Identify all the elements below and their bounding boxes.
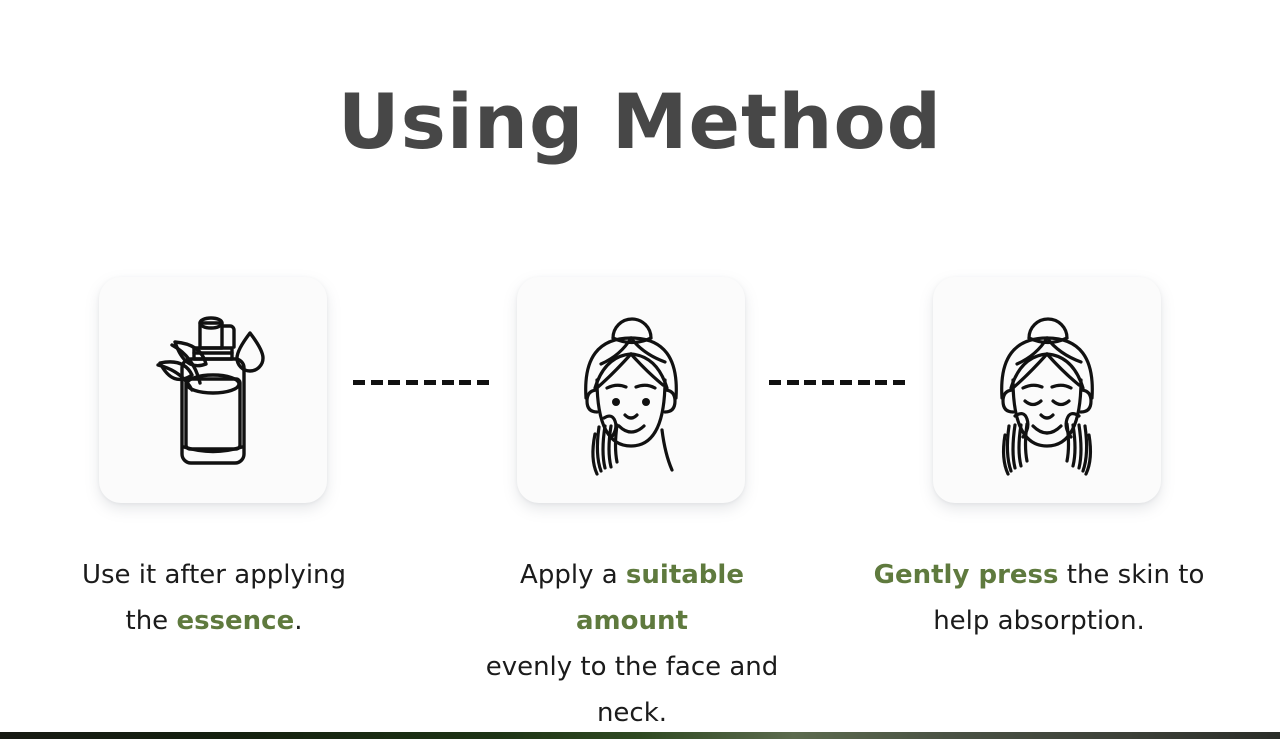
section-divider-strip [0,732,1280,739]
step-card-2[interactable] [517,277,745,503]
dash-segment [840,380,852,385]
dash-segment [442,380,454,385]
dash-segment [804,380,816,385]
dash-segment [893,380,905,385]
dash-segment [406,380,418,385]
steps-row [0,277,1280,507]
caption-line-1: Use it after applying [82,560,346,590]
woman-applying-to-face-with-one-hand-icon [543,302,719,478]
step-card-3[interactable] [933,277,1161,503]
connector-step1-step2 [353,380,489,385]
caption-emphasis: essence [176,606,294,636]
dash-segment [371,380,383,385]
step-caption-3: Gently press the skin to help absorption… [869,552,1209,644]
captions-row: Use it after applying the essence. Apply… [0,552,1280,662]
caption-text: Use it after applying [82,560,346,590]
page-title: Using Method [0,72,1280,172]
step-card-1[interactable] [99,277,327,503]
dash-segment [875,380,887,385]
dash-segment [858,380,870,385]
caption-line-1: Gently press the skin to [874,560,1205,590]
dash-segment [477,380,489,385]
caption-emphasis: Gently press [874,560,1059,590]
caption-text: Apply a [520,560,626,590]
caption-line-2: the essence. [126,606,303,636]
dash-segment [388,380,400,385]
dash-segment [822,380,834,385]
caption-text: . [294,606,302,636]
dash-segment [769,380,781,385]
caption-line-2: evenly to the face and neck. [486,652,779,728]
caption-text: evenly to the face and neck. [486,652,779,728]
step-caption-2: Apply a suitable amount evenly to the fa… [462,552,802,736]
step-caption-1: Use it after applying the essence. [44,552,384,644]
woman-pressing-cheeks-with-both-hands-icon [959,302,1135,478]
connector-step2-step3 [769,380,905,385]
caption-text: help absorption. [933,606,1145,636]
caption-line-1: Apply a suitable amount [520,560,744,636]
caption-text: the [126,606,177,636]
dash-segment [424,380,436,385]
using-method-slide: Using Method [0,0,1280,739]
dash-segment [787,380,799,385]
caption-line-2: help absorption. [933,606,1145,636]
caption-text: the skin to [1058,560,1204,590]
pump-bottle-with-leaves-and-droplet-icon [128,305,298,475]
dash-segment [353,380,365,385]
dash-segment [459,380,471,385]
